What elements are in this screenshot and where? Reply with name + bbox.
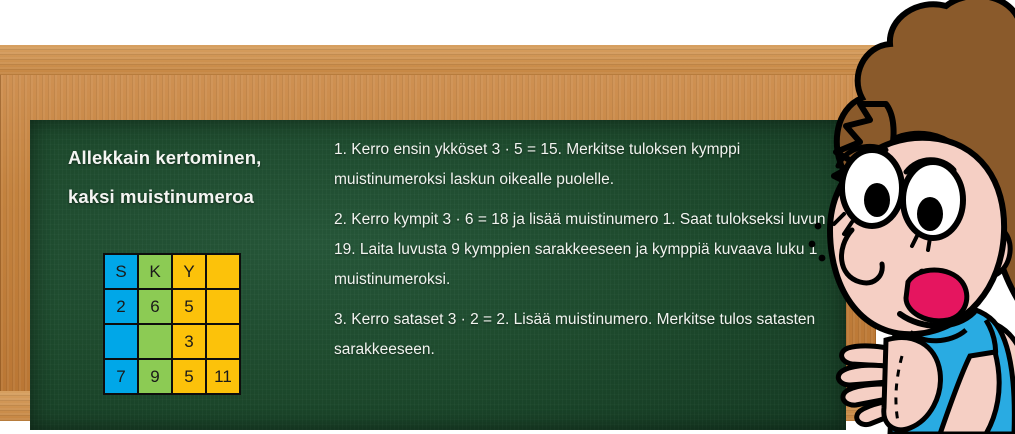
boy-pupil-right: [917, 197, 943, 231]
table-cell-r1-c1: 2: [104, 289, 138, 324]
table-cell-header-tens: K: [138, 254, 172, 289]
instruction-step-3: 3. Kerro sataset 3 · 2 = 2. Lisää muisti…: [334, 305, 834, 365]
frame-rail-top: [0, 45, 876, 75]
table-cell-r3-c2: 9: [138, 359, 172, 394]
table-cell-r3-c3: 5: [172, 359, 206, 394]
table-cell-header-carry: [206, 254, 240, 289]
boy-hand: [838, 338, 940, 430]
table-cell-r2-c2: [138, 324, 172, 359]
table-row: 3: [104, 324, 240, 359]
table-cell-header-hundreds: S: [104, 254, 138, 289]
table-cell-r1-c2: 6: [138, 289, 172, 324]
cartoon-boy-illustration: [790, 0, 1015, 434]
chalkboard-surface: Allekkain kertominen, kaksi muistinumero…: [30, 120, 846, 430]
instruction-list: 1. Kerro ensin ykköset 3 · 5 = 15. Merki…: [334, 135, 834, 375]
table-cell-r1-c4: [206, 289, 240, 324]
title-line-1: Allekkain kertominen,: [68, 138, 328, 177]
lesson-illustration: Allekkain kertominen, kaksi muistinumero…: [0, 0, 1015, 434]
table-row: 7 9 5 11: [104, 359, 240, 394]
table-row: 2 6 5: [104, 289, 240, 324]
table-cell-r3-c4: 11: [206, 359, 240, 394]
boy-mouth-shape: [906, 270, 967, 321]
instruction-step-1: 1. Kerro ensin ykköset 3 · 5 = 15. Merki…: [334, 135, 834, 195]
boy-pupil-left: [864, 183, 890, 217]
page-title: Allekkain kertominen, kaksi muistinumero…: [68, 138, 328, 216]
instruction-step-2: 2. Kerro kympit 3 · 6 = 18 ja lisää muis…: [334, 205, 834, 295]
title-line-2: kaksi muistinumeroa: [68, 177, 328, 216]
table-cell-r1-c3: 5: [172, 289, 206, 324]
table-cell-r3-c1: 7: [104, 359, 138, 394]
table-cell-header-ones: Y: [172, 254, 206, 289]
table-row: S K Y: [104, 254, 240, 289]
table-cell-r2-c3: 3: [172, 324, 206, 359]
multiplication-table: S K Y 2 6 5 3: [103, 253, 241, 395]
table-cell-r2-c1: [104, 324, 138, 359]
table-cell-r2-c4: [206, 324, 240, 359]
chalkboard-frame: Allekkain kertominen, kaksi muistinumero…: [0, 45, 876, 421]
